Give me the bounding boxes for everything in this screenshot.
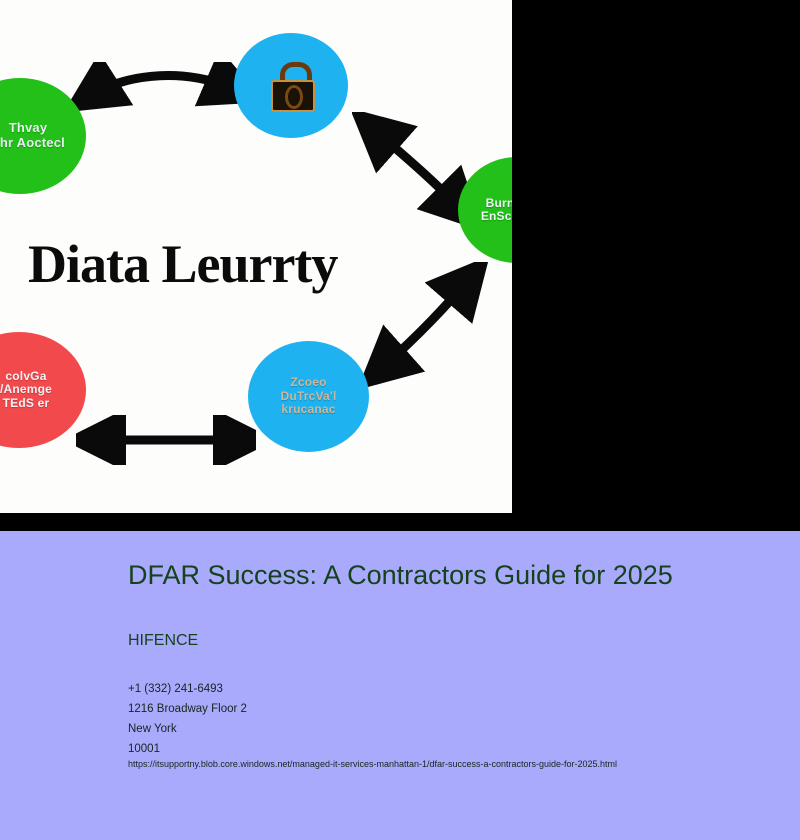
contact-street: 1216 Broadway Floor 2 (128, 699, 768, 719)
diagram-node-label: Burn EnScu (481, 197, 512, 224)
source-url[interactable]: https://itsupportny.blob.core.windows.ne… (128, 757, 617, 771)
page-title: DFAR Success: A Contractors Guide for 20… (128, 560, 728, 591)
diagram-node-padlock (234, 33, 348, 138)
arrow-blue-to-red-icon (76, 415, 256, 465)
company-name: HIFENCE (128, 632, 198, 650)
diagram-node-security-protocol: Zcoeo DuTrcVa'l krucanac (248, 341, 369, 452)
contact-phone: +1 (332) 241-6493 (128, 679, 768, 699)
arrow-threat-to-lock-icon (70, 62, 250, 122)
hero-image-region: Thvay Shr Aoctecl Burn EnScu colvGa /Ane… (0, 0, 800, 531)
padlock-keyhole (285, 85, 303, 109)
contact-city: New York (128, 719, 768, 739)
diagram-heading: Diata Leurrty (28, 233, 337, 295)
diagram-node-label: colvGa /Anemge TEdS er (0, 370, 52, 410)
diagram-node-label: Thvay Shr Aoctecl (0, 121, 65, 150)
padlock-icon (270, 62, 312, 110)
contact-postal-code: 10001 (128, 739, 768, 759)
data-security-diagram: Thvay Shr Aoctecl Burn EnScu colvGa /Ane… (0, 0, 512, 513)
diagram-node-access-control: colvGa /Anemge TEdS er (0, 332, 86, 448)
contact-details: +1 (332) 241-6493 1216 Broadway Floor 2 … (128, 679, 768, 759)
arrow-green-to-blue-icon (360, 262, 500, 387)
article-info-panel: DFAR Success: A Contractors Guide for 20… (0, 531, 800, 840)
diagram-node-label: Zcoeo DuTrcVa'l krucanac (280, 376, 336, 416)
